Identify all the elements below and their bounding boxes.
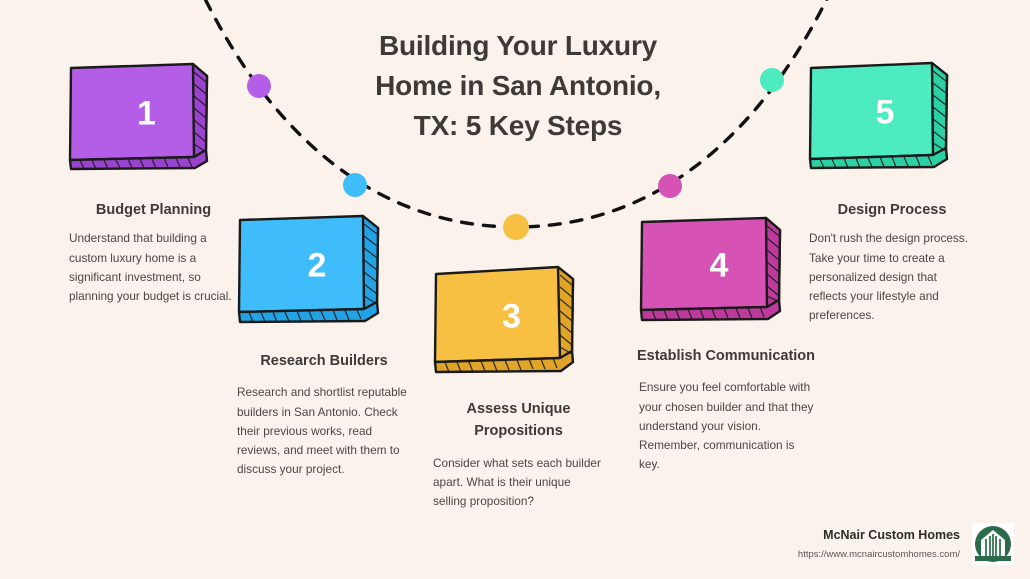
step-card-1[interactable]: 1 Budget Planning Understand that buildi… xyxy=(66,60,241,306)
step-2-description: Research and shortlist reputable builder… xyxy=(234,383,414,479)
step-3-card-graphic: 3 xyxy=(430,262,607,374)
step-4-title: Establish Communication xyxy=(636,345,816,367)
step-5-description: Don't rush the design process. Take your… xyxy=(806,229,978,325)
step-card-3[interactable]: 3 Assess Unique Propositions Consider wh… xyxy=(430,262,607,511)
footer-branding: McNair Custom Homes https://www.mcnaircu… xyxy=(798,523,1014,565)
arc-dot-3 xyxy=(503,214,529,240)
step-5-card-graphic: 5 xyxy=(806,58,978,170)
step-1-description: Understand that building a custom luxury… xyxy=(66,229,241,305)
step-4-description: Ensure you feel comfortable with your ch… xyxy=(636,378,816,474)
step-card-2[interactable]: 2 Research Builders Research and shortli… xyxy=(234,210,414,479)
page-title-line-2: Home in San Antonio, xyxy=(338,66,698,106)
step-card-5[interactable]: 5 Design Process Don't rush the design p… xyxy=(806,58,978,325)
step-5-title: Design Process xyxy=(806,199,978,221)
infographic-canvas: Building Your Luxury Home in San Antonio… xyxy=(0,0,1030,579)
brand-name: McNair Custom Homes xyxy=(798,526,960,545)
step-1-title: Budget Planning xyxy=(66,199,241,221)
mcnair-columns-logo-icon xyxy=(972,523,1014,565)
step-2-title: Research Builders xyxy=(234,350,414,372)
arc-dot-5 xyxy=(760,68,784,92)
arc-dot-4 xyxy=(658,174,682,198)
footer-text-block: McNair Custom Homes https://www.mcnaircu… xyxy=(798,526,960,561)
page-title: Building Your Luxury Home in San Antonio… xyxy=(338,26,698,145)
arc-dot-1 xyxy=(247,74,271,98)
page-title-line-3: TX: 5 Key Steps xyxy=(338,106,698,146)
step-2-card-graphic: 2 xyxy=(234,210,414,324)
step-card-4[interactable]: 4 Establish Communication Ensure you fee… xyxy=(636,212,816,474)
page-title-line-1: Building Your Luxury xyxy=(338,26,698,66)
arc-dot-2 xyxy=(343,173,367,197)
step-3-title: Assess Unique Propositions xyxy=(430,398,607,443)
step-4-card-graphic: 4 xyxy=(636,212,816,322)
step-3-description: Consider what sets each builder apart. W… xyxy=(430,454,607,511)
brand-url[interactable]: https://www.mcnaircustomhomes.com/ xyxy=(798,548,960,561)
step-1-card-graphic: 1 xyxy=(66,60,241,170)
